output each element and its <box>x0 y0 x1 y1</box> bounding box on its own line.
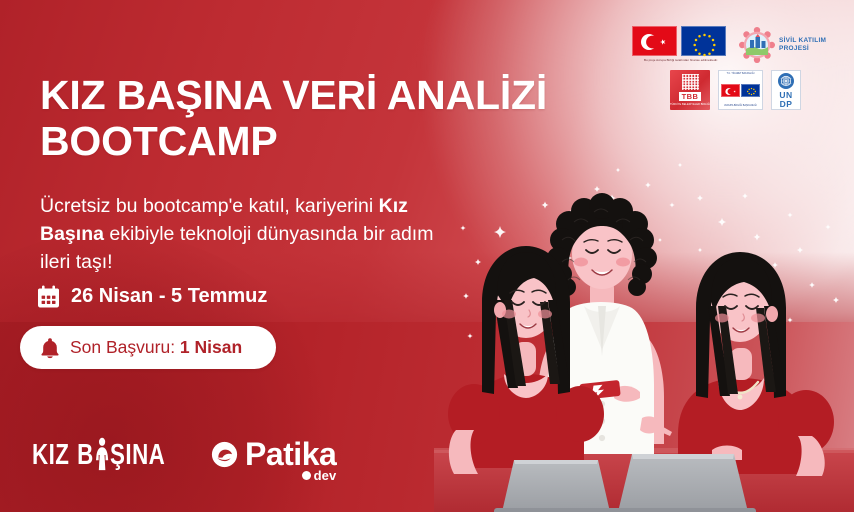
woman-right <box>678 252 834 476</box>
patika-dev-text: dev <box>314 468 337 483</box>
sivil-katilim-line2: PROJESİ <box>779 45 826 53</box>
patika-word: Patika <box>245 438 336 470</box>
deadline-value: 1 Nisan <box>180 337 242 357</box>
partner-logos-strip: Bu proje Avrupa Birliği tarafından finan… <box>632 26 842 110</box>
application-deadline-badge: Son Başvuru: 1 Nisan <box>20 326 276 369</box>
undp-acronym: UN DP <box>779 91 792 108</box>
ticaret-top-caption: T.C. TİCARET BAKANLIĞI <box>727 73 755 76</box>
patika-dot-icon <box>302 471 311 480</box>
patika-wordmark: Patika dev <box>245 438 336 470</box>
tbb-acronym: TBB <box>679 92 702 101</box>
female-figure-icon <box>95 437 110 472</box>
patika-dev-logo: Patika dev <box>211 438 336 470</box>
partner-logos-row-bottom: TBB TÜRKİYE BELEDİYELER BİRLİĞİ T.C. TİC… <box>632 70 842 110</box>
deadline-text: Son Başvuru: 1 Nisan <box>70 337 242 358</box>
laptop-right <box>610 454 756 512</box>
un-emblem-icon <box>778 73 794 89</box>
turkey-flag-icon <box>632 26 677 56</box>
headline-line-2: BOOTCAMP <box>40 118 278 164</box>
sivil-katilim-text: SİVİL KATILIM PROJESİ <box>779 37 826 52</box>
bootcamp-promo-banner: Bu proje Avrupa Birliği tarafından finan… <box>0 0 854 512</box>
sivil-katilim-line1: SİVİL KATILIM <box>779 37 826 45</box>
european-union-flag-icon-small <box>741 84 760 97</box>
calendar-icon <box>36 284 61 309</box>
page-title: KIZ BAŞINA VERİ ANALİZİBOOTCAMP <box>40 73 600 165</box>
tbb-subtitle: TÜRKİYE BELEDİYELER BİRLİĞİ <box>670 103 710 106</box>
undp-line2: DP <box>779 100 792 109</box>
ticaret-flag-pair <box>721 84 761 97</box>
description-part-1: Ücretsiz bu bootcamp'e katıl, kariyerini <box>40 195 379 217</box>
partner-logos-row-top: Bu proje Avrupa Birliği tarafından finan… <box>632 26 842 63</box>
patika-mark-icon <box>211 441 238 468</box>
date-range-text: 26 Nisan - 5 Temmuz <box>71 285 267 308</box>
european-union-flag-icon <box>681 26 726 56</box>
three-women-with-laptops-illustration <box>434 182 854 512</box>
kiz-basina-part-1: KIZ <box>32 437 69 472</box>
flag-pair <box>632 26 730 56</box>
eu-funding-caption: Bu proje Avrupa Birliği tarafından finan… <box>631 59 731 63</box>
sivil-katilim-emblem-icon <box>739 27 775 63</box>
headline-line-1: KIZ BAŞINA VERİ ANALİZİ <box>40 72 547 118</box>
patika-dev-suffix: dev <box>302 468 337 483</box>
deadline-label: Son Başvuru: <box>70 337 180 357</box>
kiz-basina-logo: KIZ B ŞINA <box>32 437 165 472</box>
tbb-logo: TBB TÜRKİYE BELEDİYELER BİRLİĞİ <box>670 70 710 110</box>
tbb-pattern-icon <box>682 74 699 90</box>
turkey-flag-icon-small <box>721 84 740 97</box>
sivil-katilim-projesi-logo: SİVİL KATILIM PROJESİ <box>739 27 826 63</box>
eu-funding-logo: Bu proje Avrupa Birliği tarafından finan… <box>632 26 730 63</box>
laptop-left <box>494 460 618 512</box>
ticaret-bakanligi-logo: T.C. TİCARET BAKANLIĞI <box>718 70 763 110</box>
undp-logo: UN DP <box>771 70 801 110</box>
kiz-basina-part-2: B <box>77 437 94 472</box>
ticaret-bottom-caption: AVRUPA BİRLİĞİ BAŞKANLIĞI <box>724 105 757 108</box>
kiz-basina-part-3: ŞINA <box>110 437 165 472</box>
date-range-row: 26 Nisan - 5 Temmuz <box>36 284 267 309</box>
bell-icon <box>40 337 60 359</box>
description-text: Ücretsiz bu bootcamp'e katıl, kariyerini… <box>40 192 460 277</box>
brand-logos-row: KIZ B ŞINA Patika dev <box>32 438 336 470</box>
